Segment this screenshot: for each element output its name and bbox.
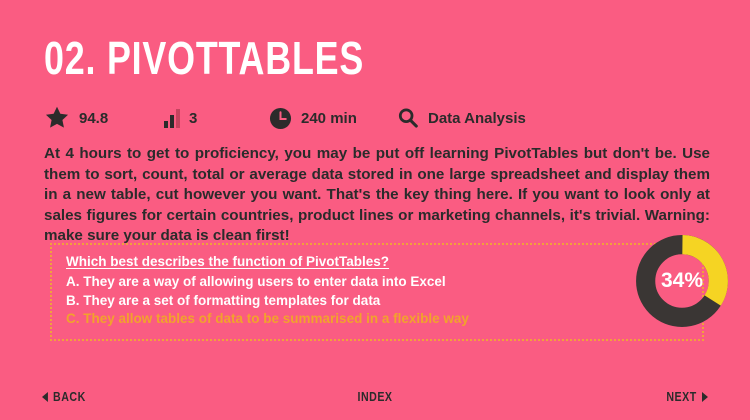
index-button[interactable]: INDEX (357, 390, 392, 404)
progress-donut: 34% (634, 233, 730, 329)
body-paragraph: At 4 hours to get to proficiency, you ma… (44, 144, 710, 247)
metric-duration: 240 min (269, 103, 397, 133)
metric-duration-value: 240 min (301, 110, 357, 127)
back-button[interactable]: BACK (42, 390, 86, 404)
back-label: BACK (53, 390, 86, 404)
metric-level: 3 (164, 103, 269, 133)
quiz-option-a[interactable]: A. They are a way of allowing users to e… (66, 273, 688, 292)
star-icon (44, 105, 70, 131)
chevron-left-icon (42, 392, 48, 402)
search-icon (397, 107, 419, 129)
donut-center-label: 34% (634, 233, 730, 329)
page-title: 02. PIVOTTABLES (44, 32, 364, 84)
quiz-option-b[interactable]: B. They are a set of formatting template… (66, 292, 688, 311)
metrics-row: 94.8 3 240 min Dat (44, 103, 526, 133)
bottom-navigation: BACK INDEX NEXT (0, 378, 750, 420)
bar-level-icon (164, 109, 180, 128)
metric-category-value: Data Analysis (428, 110, 526, 127)
chevron-right-icon (702, 392, 708, 402)
index-label: INDEX (357, 390, 392, 404)
metric-category: Data Analysis (397, 103, 526, 133)
next-label: NEXT (667, 390, 697, 404)
quiz-panel: Which best describes the function of Piv… (50, 243, 704, 341)
metric-rating-value: 94.8 (79, 110, 108, 127)
slide-root: 02. PIVOTTABLES 94.8 3 240 min (0, 0, 750, 420)
clock-icon (269, 107, 292, 130)
quiz-question: Which best describes the function of Piv… (66, 254, 688, 269)
metric-level-value: 3 (189, 110, 197, 127)
next-button[interactable]: NEXT (667, 390, 708, 404)
metric-rating: 94.8 (44, 103, 164, 133)
quiz-option-c[interactable]: C. They allow tables of data to be summa… (66, 310, 688, 329)
